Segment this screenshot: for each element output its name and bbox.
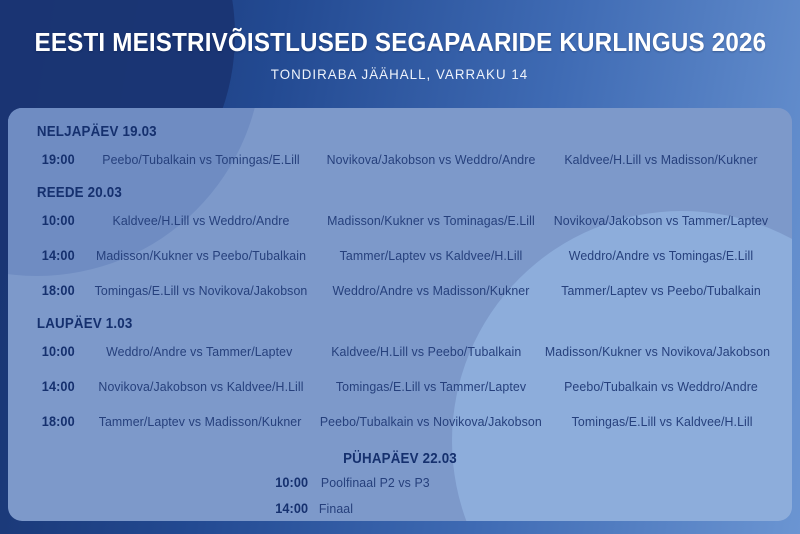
match-entry: Tomingas/E.Lill vs Novikova/Jakobson bbox=[92, 283, 311, 298]
slot-matches: Peebo/Tubalkain vs Tomingas/E.LillNoviko… bbox=[86, 152, 776, 167]
slot-matches: Finaal bbox=[318, 501, 528, 516]
tournament-poster: EESTI MEISTRIVÕISTLUSED SEGAPAARIDE KURL… bbox=[0, 0, 800, 534]
schedule-row: 10:00Poolfinaal P2 vs P3 bbox=[24, 469, 776, 495]
day-block-laupaev: LAUPÄEV 1.0310:00Weddro/Andre vs Tammer/… bbox=[24, 310, 776, 439]
day-block-neljapaev: NELJAPÄEV 19.0319:00Peebo/Tubalkain vs T… bbox=[24, 118, 776, 177]
slot-matches: Tomingas/E.Lill vs Novikova/JakobsonWedd… bbox=[86, 283, 776, 298]
match-entry: Tomingas/E.Lill vs Tammer/Laptev bbox=[322, 379, 541, 394]
day-heading-puhapaev: PÜHAPÄEV 22.03 bbox=[54, 441, 746, 469]
slot-matches: Novikova/Jakobson vs Kaldvee/H.LillTomin… bbox=[86, 379, 776, 394]
match-entry: Tammer/Laptev vs Madisson/Kukner bbox=[92, 414, 309, 429]
slot-time: 19:00 bbox=[26, 152, 84, 167]
slot-matches: Tammer/Laptev vs Madisson/KuknerPeebo/Tu… bbox=[86, 414, 776, 429]
slot-matches: Kaldvee/H.Lill vs Weddro/AndreMadisson/K… bbox=[86, 213, 776, 228]
day-block-reede: REEDE 20.0310:00Kaldvee/H.Lill vs Weddro… bbox=[24, 179, 776, 308]
day-heading-reede: REEDE 20.03 bbox=[24, 179, 716, 203]
slot-time: 14:00 bbox=[26, 379, 84, 394]
poster-header: EESTI MEISTRIVÕISTLUSED SEGAPAARIDE KURL… bbox=[0, 0, 800, 108]
match-entry: Novikova/Jakobson vs Weddro/Andre bbox=[322, 152, 541, 167]
slot-time: 10:00 bbox=[26, 344, 84, 359]
schedule-row: 14:00Finaal bbox=[24, 495, 776, 521]
match-entry: Peebo/Tubalkain vs Weddro/Andre bbox=[552, 379, 771, 394]
slot-matches: Madisson/Kukner vs Peebo/TubalkainTammer… bbox=[86, 248, 776, 263]
match-entry: Novikova/Jakobson vs Tammer/Laptev bbox=[552, 213, 771, 228]
day-heading-laupaev: LAUPÄEV 1.03 bbox=[24, 310, 716, 334]
slot-time: 18:00 bbox=[26, 414, 84, 429]
match-entry: Madisson/Kukner vs Novikova/Jakobson bbox=[545, 344, 770, 359]
schedule-row: 14:00Madisson/Kukner vs Peebo/TubalkainT… bbox=[24, 238, 776, 273]
match-entry: Peebo/Tubalkain vs Novikova/Jakobson bbox=[320, 414, 542, 429]
day-heading-neljapaev: NELJAPÄEV 19.03 bbox=[24, 118, 716, 142]
slot-matches: Poolfinaal P2 vs P3 bbox=[318, 475, 528, 490]
match-entry: Tomingas/E.Lill vs Kaldvee/H.Lill bbox=[554, 414, 771, 429]
match-entry: Weddro/Andre vs Madisson/Kukner bbox=[322, 283, 541, 298]
schedule-row: 18:00Tomingas/E.Lill vs Novikova/Jakobso… bbox=[24, 273, 776, 308]
match-entry: Novikova/Jakobson vs Kaldvee/H.Lill bbox=[92, 379, 311, 394]
match-entry: Kaldvee/H.Lill vs Peebo/Tubalkain bbox=[318, 344, 533, 359]
schedule-row: 14:00Novikova/Jakobson vs Kaldvee/H.Lill… bbox=[24, 369, 776, 404]
venue-subtitle: TONDIRABA JÄÄHALL, VARRAKU 14 bbox=[271, 66, 528, 82]
slot-time: 14:00 bbox=[26, 248, 84, 263]
slot-matches: Weddro/Andre vs Tammer/LaptevKaldvee/H.L… bbox=[86, 344, 776, 359]
slot-time: 14:00 bbox=[273, 501, 316, 516]
day-block-puhapaev: PÜHAPÄEV 22.0310:00Poolfinaal P2 vs P314… bbox=[24, 441, 776, 521]
match-entry: Kaldvee/H.Lill vs Madisson/Kukner bbox=[552, 152, 771, 167]
schedule-list: NELJAPÄEV 19.0319:00Peebo/Tubalkain vs T… bbox=[8, 108, 792, 521]
slot-time: 10:00 bbox=[26, 213, 84, 228]
slot-time: 18:00 bbox=[26, 283, 84, 298]
match-entry: Madisson/Kukner vs Tominagas/E.Lill bbox=[322, 213, 541, 228]
schedule-row: 10:00Kaldvee/H.Lill vs Weddro/AndreMadis… bbox=[24, 203, 776, 238]
match-entry: Kaldvee/H.Lill vs Weddro/Andre bbox=[92, 213, 311, 228]
match-entry: Tammer/Laptev vs Peebo/Tubalkain bbox=[552, 283, 771, 298]
slot-time: 10:00 bbox=[273, 475, 316, 490]
schedule-row: 10:00Weddro/Andre vs Tammer/LaptevKaldve… bbox=[24, 334, 776, 369]
schedule-row: 18:00Tammer/Laptev vs Madisson/KuknerPee… bbox=[24, 404, 776, 439]
match-entry: Weddro/Andre vs Tomingas/E.Lill bbox=[552, 248, 771, 263]
match-entry: Finaal bbox=[319, 501, 353, 516]
match-entry: Peebo/Tubalkain vs Tomingas/E.Lill bbox=[92, 152, 311, 167]
match-entry: Poolfinaal P2 vs P3 bbox=[321, 475, 430, 490]
schedule-panel: NELJAPÄEV 19.0319:00Peebo/Tubalkain vs T… bbox=[8, 108, 792, 521]
page-title: EESTI MEISTRIVÕISTLUSED SEGAPAARIDE KURL… bbox=[34, 27, 766, 58]
match-entry: Weddro/Andre vs Tammer/Laptev bbox=[92, 344, 307, 359]
match-entry: Tammer/Laptev vs Kaldvee/H.Lill bbox=[322, 248, 541, 263]
schedule-row: 19:00Peebo/Tubalkain vs Tomingas/E.LillN… bbox=[24, 142, 776, 177]
match-entry: Madisson/Kukner vs Peebo/Tubalkain bbox=[92, 248, 311, 263]
